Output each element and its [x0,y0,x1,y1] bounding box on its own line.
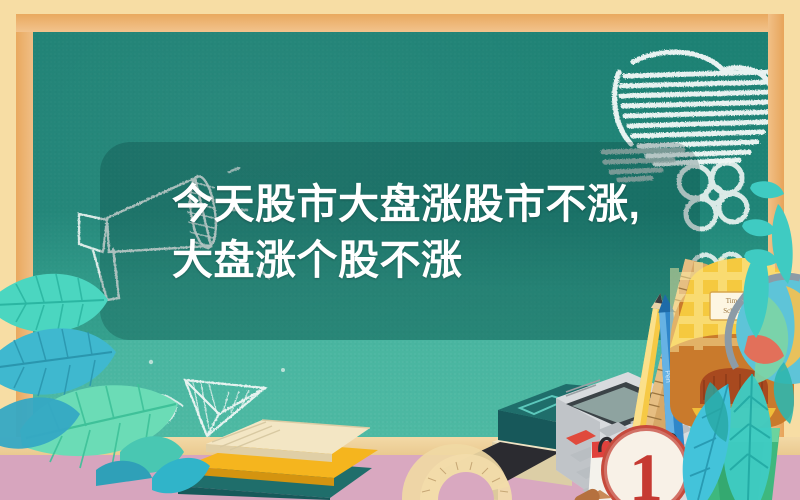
page-title: 今天股市大盘涨股市不涨, 大盘涨个股不涨 [172,176,692,288]
board-frame-left [16,14,33,500]
desk-surface-left [0,455,330,500]
board-frame-right [768,14,784,500]
poster-canvas: 今天股市大盘涨股市不涨, 大盘涨个股不涨 [0,0,800,500]
board-frame-top [16,14,784,32]
desk-ledge [0,437,800,457]
